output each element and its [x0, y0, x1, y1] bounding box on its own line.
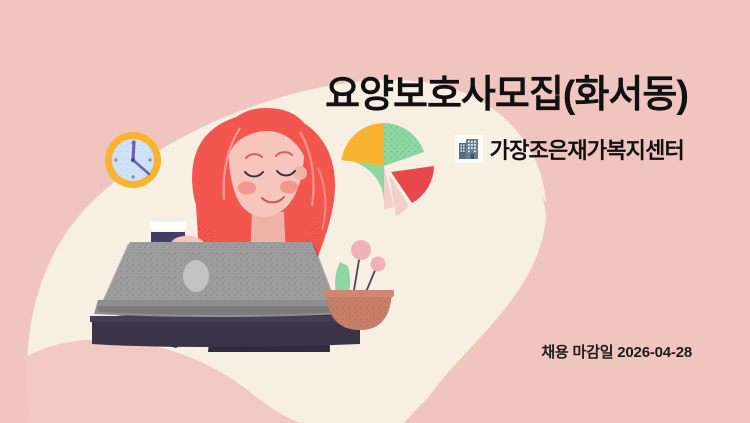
wall-clock: [105, 132, 161, 188]
illustration-canvas: [0, 0, 750, 423]
laptop: [94, 242, 344, 317]
job-recruitment-banner: 요양보호사모집(화서동): [0, 0, 750, 423]
